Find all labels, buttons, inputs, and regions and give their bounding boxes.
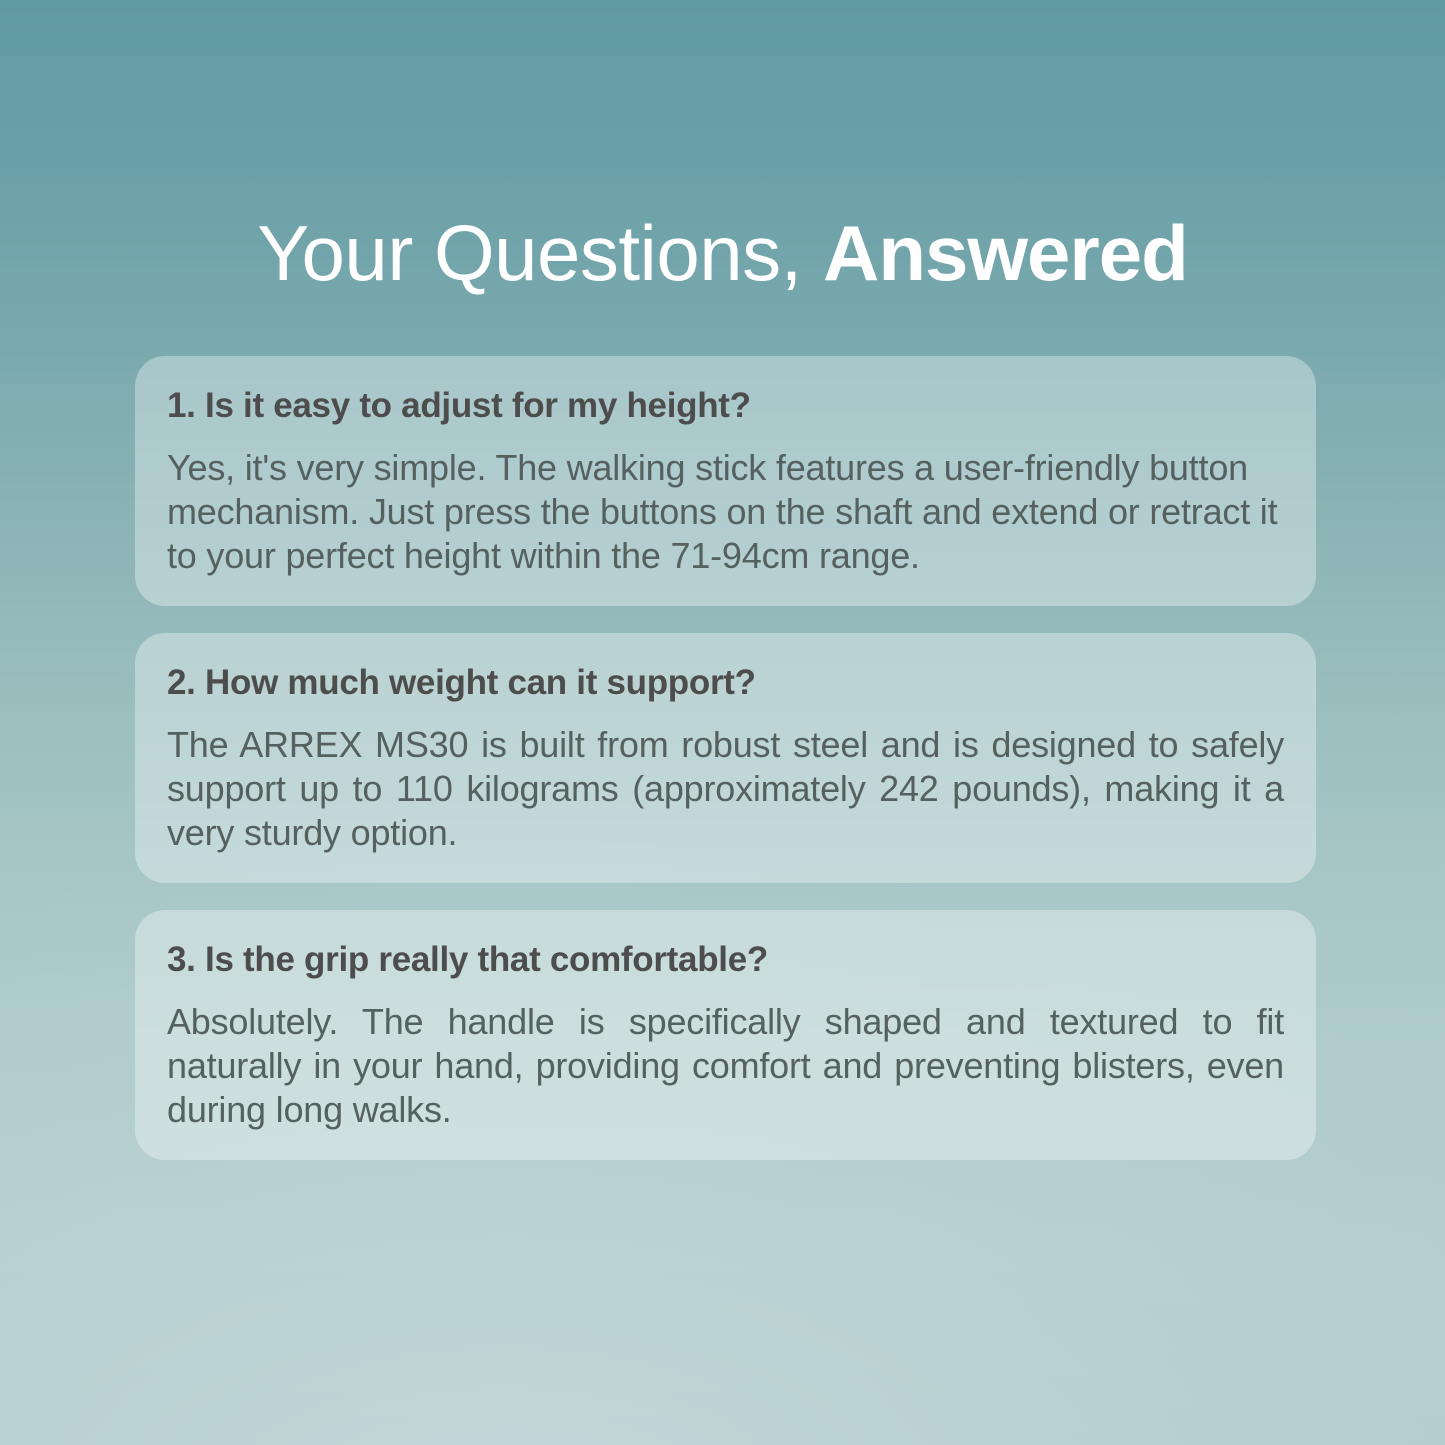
faq-answer-1: Yes, it's very simple. The walking stick… <box>167 446 1284 578</box>
faq-card-3[interactable]: 3. Is the grip really that comfortable? … <box>135 910 1316 1160</box>
faq-page: Your Questions, Answered 1. Is it easy t… <box>0 0 1445 1445</box>
faq-question-2: 2. How much weight can it support? <box>167 663 1284 703</box>
page-title-light-part: Your Questions, <box>257 209 823 297</box>
faq-question-1: 1. Is it easy to adjust for my height? <box>167 386 1284 426</box>
faq-card-1[interactable]: 1. Is it easy to adjust for my height? Y… <box>135 356 1316 606</box>
page-title-bold-part: Answered <box>823 209 1188 297</box>
faq-list: 1. Is it easy to adjust for my height? Y… <box>135 356 1316 1187</box>
faq-answer-2: The ARREX MS30 is built from robust stee… <box>167 723 1284 855</box>
faq-answer-3: Absolutely. The handle is specifically s… <box>167 1000 1284 1132</box>
faq-question-3: 3. Is the grip really that comfortable? <box>167 940 1284 980</box>
page-title: Your Questions, Answered <box>0 214 1445 292</box>
faq-card-2[interactable]: 2. How much weight can it support? The A… <box>135 633 1316 883</box>
